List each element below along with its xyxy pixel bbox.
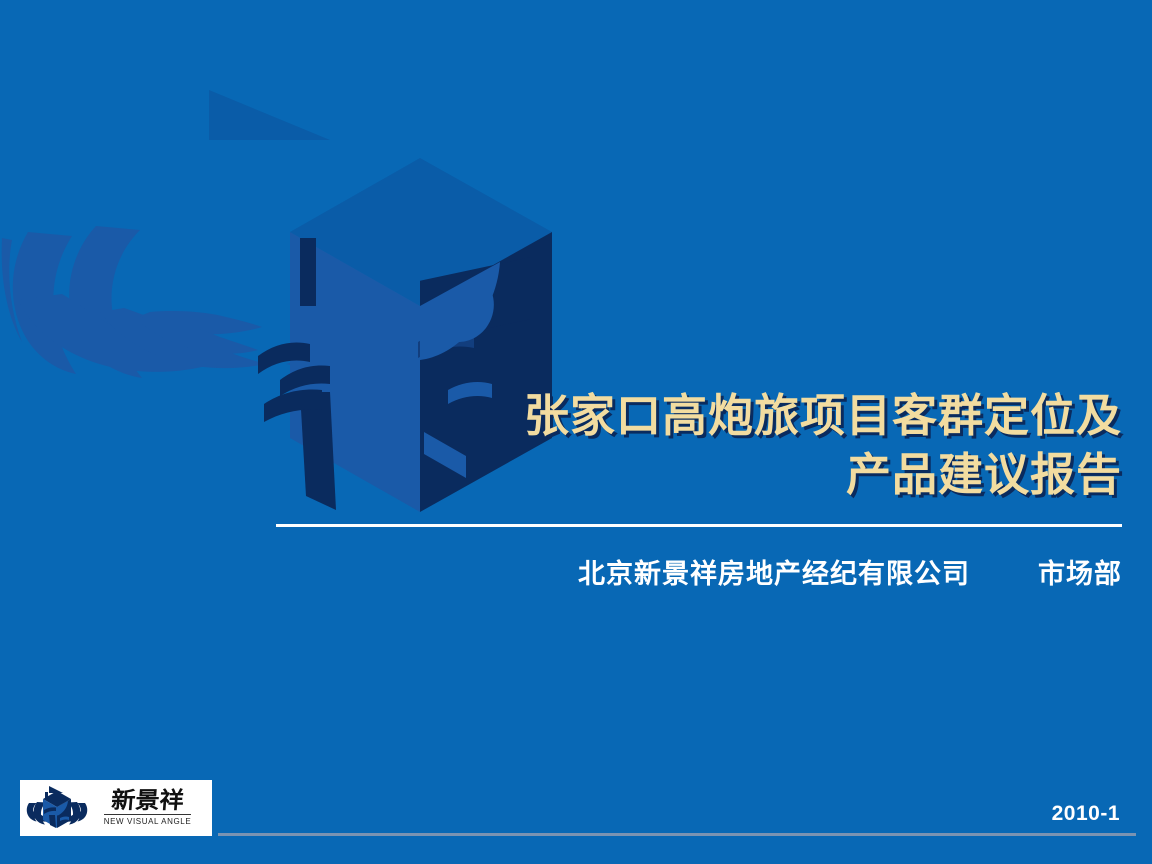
title-divider-rule [276, 524, 1122, 527]
banner-triangle-shape [209, 90, 330, 140]
emblem-block [420, 257, 532, 343]
title-line-2: 产品建议报告 [260, 445, 1122, 504]
left-wing-swirls [13, 226, 266, 378]
footer-divider-rule [218, 833, 1136, 836]
slide-title: 张家口高炮旅项目客群定位及 产品建议报告 [260, 386, 1122, 504]
wing-outer-tips [2, 238, 551, 342]
right-wing-swirls [286, 226, 539, 378]
title-line-1: 张家口高炮旅项目客群定位及 [260, 386, 1122, 445]
date-label: 2010-1 [1052, 802, 1120, 826]
logo-cube-icon [26, 784, 88, 832]
subtitle-text: 北京新景祥房地产经纪有限公司 市场部 [578, 559, 1122, 589]
presentation-slide: 张家口高炮旅项目客群定位及 产品建议报告 北京新景祥房地产经纪有限公司 市场部 … [0, 0, 1152, 864]
logo-wordmark: 新景祥 NEW VISUAL ANGLE [89, 789, 206, 827]
logo-english-name: NEW VISUAL ANGLE [104, 814, 192, 827]
company-logo: 新景祥 NEW VISUAL ANGLE [20, 780, 212, 836]
cube-top-face [290, 158, 552, 306]
logo-chinese-name: 新景祥 [110, 789, 184, 813]
slide-subtitle: 北京新景祥房地产经纪有限公司 市场部 [260, 552, 1122, 591]
